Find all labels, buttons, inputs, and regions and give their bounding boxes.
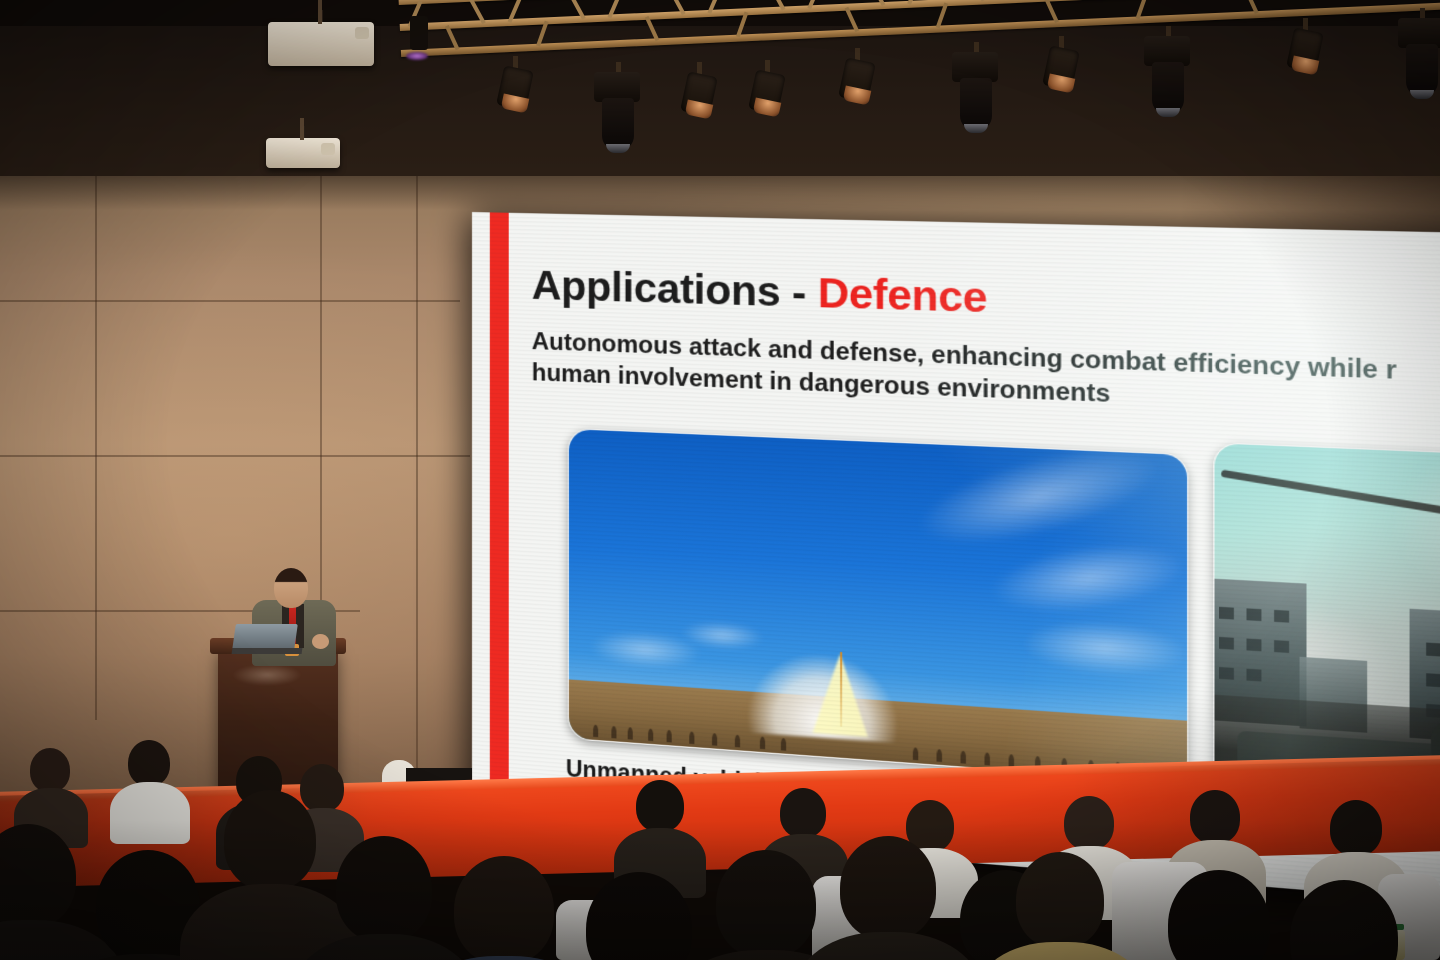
- podium-logo: [232, 664, 302, 686]
- stage-light-moving-head: [952, 42, 1000, 136]
- stage-light-par: [684, 62, 714, 120]
- wall-seam: [0, 300, 460, 302]
- moving-head-barrel: [960, 78, 992, 130]
- moving-head-lens: [964, 124, 988, 133]
- projector-pole: [318, 0, 322, 24]
- slide-title-highlight: Defence: [818, 269, 987, 322]
- moving-head-barrel: [602, 98, 634, 150]
- missile-trail: [840, 652, 842, 727]
- stage-light-moving-head: [1144, 26, 1192, 120]
- wall-seam: [416, 170, 418, 810]
- pendant-lamp-purple-icon: [404, 16, 434, 72]
- moving-head-barrel: [1152, 62, 1184, 114]
- stage-light-par: [752, 60, 782, 118]
- moving-head-barrel: [1406, 44, 1438, 96]
- slide-accent-bar: [490, 212, 509, 825]
- slide-image-unmanned-vehicle-formation: [568, 428, 1188, 784]
- stage-light-par: [500, 56, 530, 114]
- stage-light-par: [1290, 18, 1320, 76]
- projector-pole: [300, 118, 304, 140]
- projector-lens: [321, 143, 335, 155]
- lamp-purple-glow: [406, 52, 428, 60]
- stage-light-moving-head: [1398, 8, 1440, 102]
- stage-light-par: [842, 48, 872, 106]
- slide-title-main: Applications -: [532, 262, 818, 317]
- ceiling-projector-upper: [268, 22, 374, 66]
- moving-head-lens: [1156, 108, 1180, 117]
- speaker-hand-right: [312, 634, 329, 649]
- slide-title: Applications - Defence: [532, 262, 987, 323]
- truss-web: [645, 16, 659, 41]
- lamp-housing: [410, 16, 428, 50]
- truss-web: [845, 7, 859, 32]
- podium-laptop-base: [232, 648, 303, 654]
- wall-seam: [0, 455, 470, 457]
- stage-light-par: [1046, 36, 1076, 94]
- slide-subtitle: Autonomous attack and defense, enhancing…: [532, 326, 1440, 432]
- truss-web: [445, 25, 459, 50]
- moving-head-lens: [606, 144, 630, 153]
- projector-lens: [355, 27, 369, 39]
- podium-laptop-screen: [232, 624, 298, 650]
- moving-head-lens: [1410, 90, 1434, 99]
- speaker-head: [274, 568, 308, 608]
- wall-seam: [95, 160, 97, 720]
- conference-presentation-scene: Applications - Defence Autonomous attack…: [0, 0, 1440, 960]
- ceiling-projector-lower: [266, 138, 340, 168]
- stage-light-moving-head: [594, 62, 642, 156]
